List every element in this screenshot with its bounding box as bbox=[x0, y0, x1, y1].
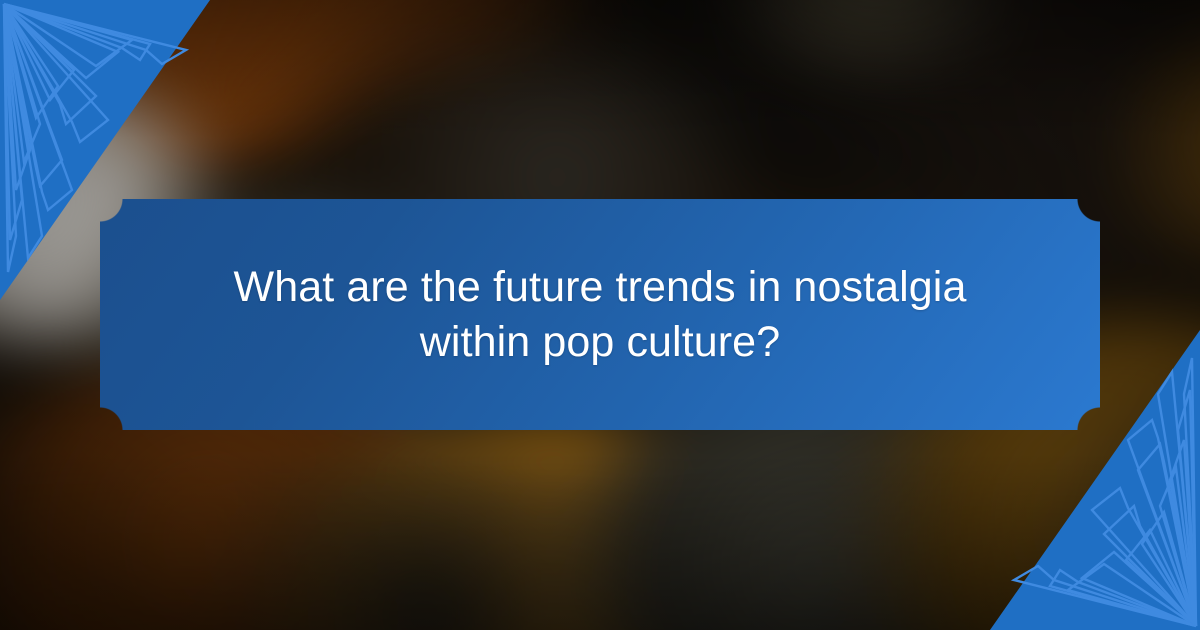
quote-card: What are the future trends in nostalgia … bbox=[100, 199, 1100, 430]
quote-card-canvas: What are the future trends in nostalgia … bbox=[0, 0, 1200, 630]
quote-text: What are the future trends in nostalgia … bbox=[230, 260, 970, 369]
